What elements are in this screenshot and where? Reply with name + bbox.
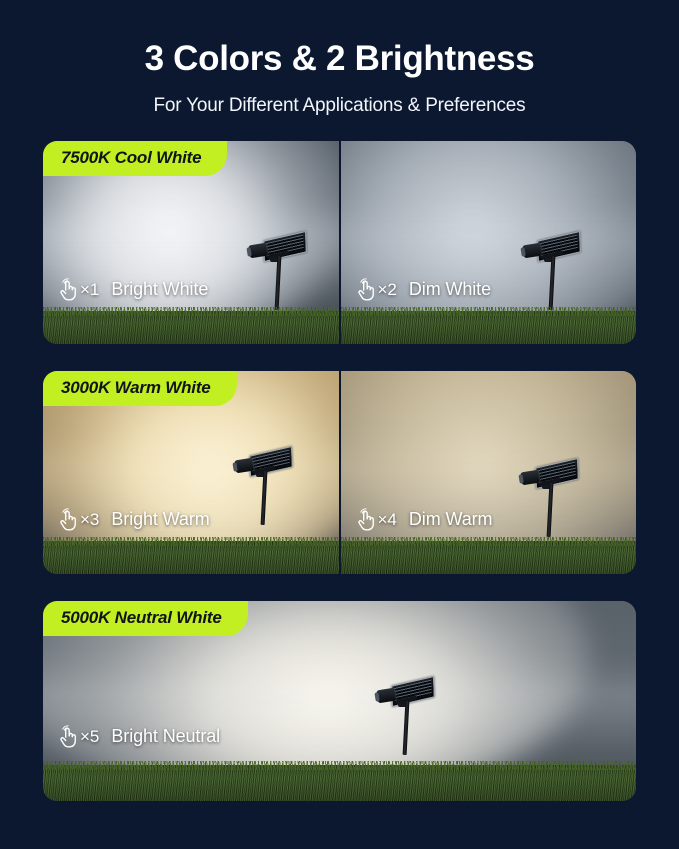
tap-label-bright-warm: ×3 Bright Warm: [57, 508, 210, 532]
solar-spotlight-fixture: [377, 679, 439, 753]
mode-name: Dim Warm: [409, 509, 493, 530]
tap-hand-icon: [355, 278, 377, 302]
grass-strip: [43, 765, 636, 801]
tap-count: ×3: [80, 510, 99, 530]
ground-stake: [548, 255, 555, 309]
badge-color-temperature-3000k: 3000K Warm White: [43, 371, 237, 406]
ground-stake: [275, 255, 282, 309]
mode-name: Bright Warm: [111, 509, 209, 530]
solar-spotlight-fixture: [523, 234, 585, 308]
grass-strip: [43, 541, 339, 573]
grass-strip: [43, 311, 339, 343]
tap-label-dim-warm: ×4 Dim Warm: [355, 508, 493, 532]
tap-count: ×4: [378, 510, 397, 530]
grass-strip: [341, 541, 637, 573]
header: 3 Colors & 2 Brightness For Your Differe…: [0, 0, 679, 117]
lamp-head: [522, 242, 543, 258]
mode-name: Dim White: [409, 279, 491, 300]
lamp-head: [234, 457, 255, 473]
grass-strip: [341, 311, 637, 343]
tap-hand-icon: [57, 508, 79, 532]
tap-label-bright-neutral: ×5 Bright Neutral: [57, 725, 220, 749]
tap-label-dim-white: ×2 Dim White: [355, 278, 492, 302]
tap-hand-icon: [355, 508, 377, 532]
ground-stake: [546, 482, 553, 536]
scene-panel-dim-white[interactable]: ×2 Dim White: [339, 141, 637, 344]
tap-label-bright-white: ×1 Bright White: [57, 278, 208, 302]
tap-hand-icon: [57, 725, 79, 749]
lamp-head: [376, 687, 397, 703]
horizon-haze: [43, 681, 636, 761]
badge-color-temperature-5000k: 5000K Neutral White: [43, 601, 248, 636]
mode-name: Bright White: [111, 279, 208, 300]
tap-count: ×1: [80, 280, 99, 300]
solar-spotlight-fixture: [235, 449, 297, 523]
solar-spotlight-fixture: [521, 461, 583, 535]
lamp-head: [248, 242, 269, 258]
tap-count: ×2: [378, 280, 397, 300]
solar-spotlight-fixture: [249, 234, 311, 308]
tap-hand-icon: [57, 278, 79, 302]
ground-stake: [403, 700, 410, 754]
lighting-row-cool-white: 7500K Cool White: [43, 141, 636, 344]
lamp-head: [520, 469, 541, 485]
scene-panel-dim-warm[interactable]: ×4 Dim Warm: [339, 371, 637, 574]
page-subtitle: For Your Different Applications & Prefer…: [0, 95, 679, 117]
ground-stake: [261, 470, 268, 524]
page-title: 3 Colors & 2 Brightness: [0, 40, 679, 79]
comparison-card-stack: 7500K Cool White: [0, 141, 679, 801]
badge-color-temperature-7500k: 7500K Cool White: [43, 141, 227, 176]
lighting-row-neutral-white: 5000K Neutral White: [43, 601, 636, 801]
mode-name: Bright Neutral: [111, 726, 220, 747]
lighting-row-warm-white: 3000K Warm White: [43, 371, 636, 574]
tap-count: ×5: [80, 727, 99, 747]
